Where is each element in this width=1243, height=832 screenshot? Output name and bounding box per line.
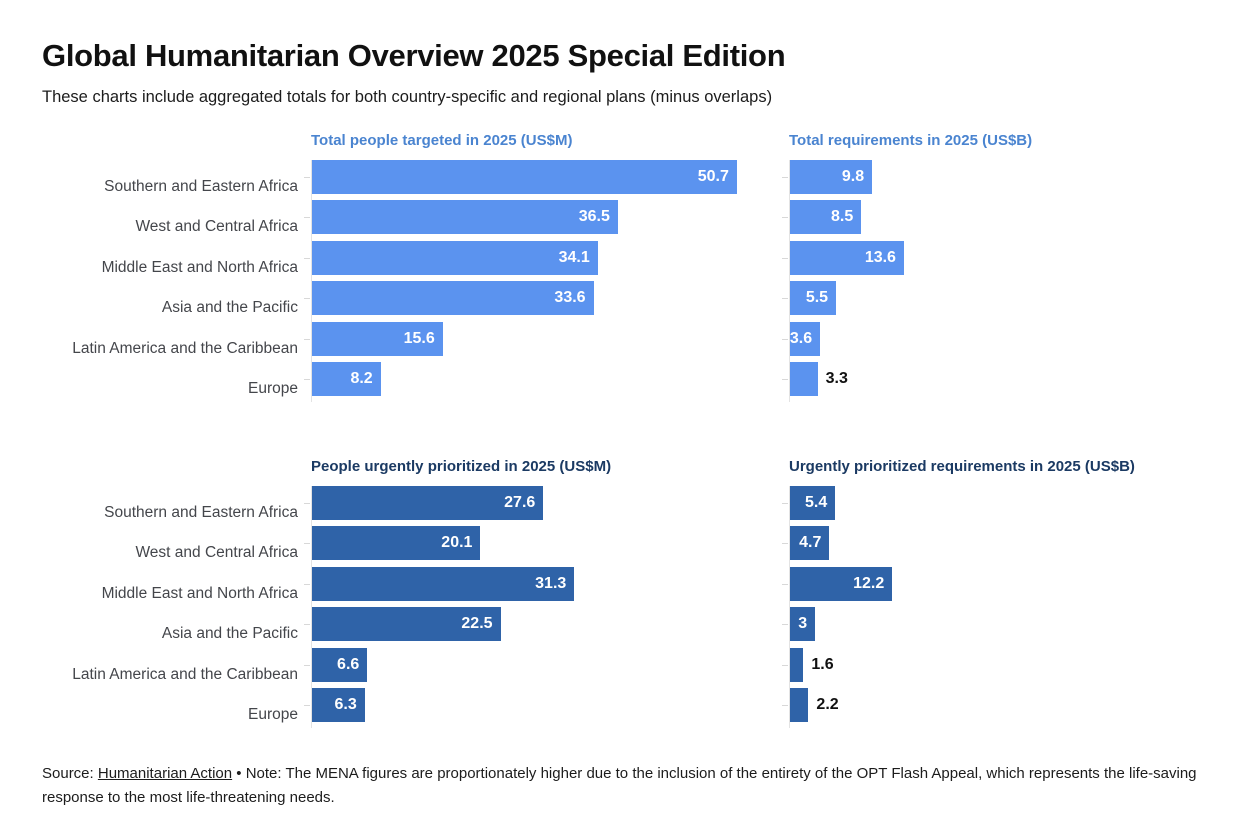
axis-tick xyxy=(782,584,788,585)
bar-value-label: 8.2 xyxy=(350,362,372,396)
category-label: Latin America and the Caribbean xyxy=(72,332,298,366)
axis-tick xyxy=(782,379,788,380)
axis-tick xyxy=(304,705,310,706)
bar-value-label: 15.6 xyxy=(404,322,435,356)
bar[interactable]: 33.6 xyxy=(312,281,594,315)
axis-tick xyxy=(782,503,788,504)
category-label: Middle East and North Africa xyxy=(102,577,298,611)
axis-tick xyxy=(782,258,788,259)
bar[interactable]: 5.4 xyxy=(790,486,835,520)
axis-tick xyxy=(304,665,310,666)
bar[interactable]: 34.1 xyxy=(312,241,598,275)
bar-value-label: 1.6 xyxy=(811,648,833,682)
bar[interactable]: 6.6 xyxy=(312,648,367,682)
axis-tick xyxy=(782,624,788,625)
bar[interactable]: 3.3 xyxy=(790,362,818,396)
axis-tick xyxy=(304,298,310,299)
bar-value-label: 5.5 xyxy=(806,281,828,315)
category-label: Europe xyxy=(248,372,298,406)
bar[interactable]: 1.6 xyxy=(790,648,803,682)
axis-tick xyxy=(782,339,788,340)
footnote-source-prefix: Source: xyxy=(42,765,98,782)
bar-value-label: 6.6 xyxy=(337,648,359,682)
chart-title: Urgently prioritized requirements in 202… xyxy=(789,458,1135,475)
bar[interactable]: 8.5 xyxy=(790,200,861,234)
axis-tick xyxy=(304,584,310,585)
axis-tick xyxy=(304,379,310,380)
page-title: Global Humanitarian Overview 2025 Specia… xyxy=(42,38,785,74)
axis-tick xyxy=(304,217,310,218)
axis-tick xyxy=(304,503,310,504)
axis-tick xyxy=(304,339,310,340)
chart-total-requirements: Total requirements in 2025 (US$B) 9.88.5… xyxy=(789,132,1209,412)
category-label: Europe xyxy=(248,698,298,732)
axis-tick xyxy=(304,543,310,544)
bar-value-label: 50.7 xyxy=(698,160,729,194)
bar-value-label: 5.4 xyxy=(805,486,827,520)
chart-title: People urgently prioritized in 2025 (US$… xyxy=(311,458,611,475)
bar-value-label: 12.2 xyxy=(853,567,884,601)
bar[interactable]: 20.1 xyxy=(312,526,480,560)
bar[interactable]: 22.5 xyxy=(312,607,501,641)
bar-value-label: 22.5 xyxy=(461,607,492,641)
bar[interactable]: 5.5 xyxy=(790,281,836,315)
bar-value-label: 31.3 xyxy=(535,567,566,601)
bar[interactable]: 2.2 xyxy=(790,688,808,722)
chart-urgently-prioritized-requirements: Urgently prioritized requirements in 202… xyxy=(789,458,1209,738)
bar[interactable]: 50.7 xyxy=(312,160,737,194)
bar-value-label: 9.8 xyxy=(842,160,864,194)
chart-total-people-targeted: Total people targeted in 2025 (US$M) 50.… xyxy=(311,132,771,412)
bar-value-label: 8.5 xyxy=(831,200,853,234)
bar-value-label: 27.6 xyxy=(504,486,535,520)
category-labels-bottom: Southern and Eastern AfricaWest and Cent… xyxy=(42,496,298,736)
bar[interactable]: 27.6 xyxy=(312,486,543,520)
bar-value-label: 34.1 xyxy=(559,241,590,275)
category-label: West and Central Africa xyxy=(135,536,298,570)
category-label: Southern and Eastern Africa xyxy=(104,170,298,204)
category-label: Latin America and the Caribbean xyxy=(72,658,298,692)
bar-value-label: 3.3 xyxy=(826,362,848,396)
bar[interactable]: 6.3 xyxy=(312,688,365,722)
bar[interactable]: 36.5 xyxy=(312,200,618,234)
axis-tick xyxy=(782,665,788,666)
bar[interactable]: 4.7 xyxy=(790,526,829,560)
bar[interactable]: 3.6 xyxy=(790,322,820,356)
axis-tick xyxy=(304,177,310,178)
bar[interactable]: 8.2 xyxy=(312,362,381,396)
bar-value-label: 2.2 xyxy=(816,688,838,722)
bar-value-label: 36.5 xyxy=(579,200,610,234)
bar-value-label: 3.6 xyxy=(790,322,812,356)
axis-tick xyxy=(782,298,788,299)
bar[interactable]: 9.8 xyxy=(790,160,872,194)
bar[interactable]: 3 xyxy=(790,607,815,641)
category-label: West and Central Africa xyxy=(135,210,298,244)
category-label: Middle East and North Africa xyxy=(102,251,298,285)
chart-title: Total people targeted in 2025 (US$M) xyxy=(311,132,572,149)
bar-value-label: 20.1 xyxy=(441,526,472,560)
category-label: Southern and Eastern Africa xyxy=(104,496,298,530)
category-label: Asia and the Pacific xyxy=(162,617,298,651)
footnote: Source: Humanitarian Action • Note: The … xyxy=(42,762,1202,810)
bar[interactable]: 31.3 xyxy=(312,567,574,601)
axis-tick xyxy=(782,217,788,218)
axis-tick xyxy=(304,624,310,625)
bar-value-label: 4.7 xyxy=(799,526,821,560)
bar-value-label: 13.6 xyxy=(865,241,896,275)
axis-tick xyxy=(782,177,788,178)
bar[interactable]: 13.6 xyxy=(790,241,904,275)
category-label: Asia and the Pacific xyxy=(162,291,298,325)
bar[interactable]: 12.2 xyxy=(790,567,892,601)
humanitarian-action-link[interactable]: Humanitarian Action xyxy=(98,765,232,782)
axis-tick xyxy=(782,705,788,706)
category-labels-top: Southern and Eastern AfricaWest and Cent… xyxy=(42,170,298,410)
axis-tick xyxy=(782,543,788,544)
page-subtitle: These charts include aggregated totals f… xyxy=(42,88,772,107)
chart-title: Total requirements in 2025 (US$B) xyxy=(789,132,1032,149)
bar[interactable]: 15.6 xyxy=(312,322,443,356)
chart-people-urgently-prioritized: People urgently prioritized in 2025 (US$… xyxy=(311,458,771,738)
axis-tick xyxy=(304,258,310,259)
bar-value-label: 33.6 xyxy=(554,281,585,315)
bar-value-label: 3 xyxy=(798,607,807,641)
bar-value-label: 6.3 xyxy=(335,688,357,722)
